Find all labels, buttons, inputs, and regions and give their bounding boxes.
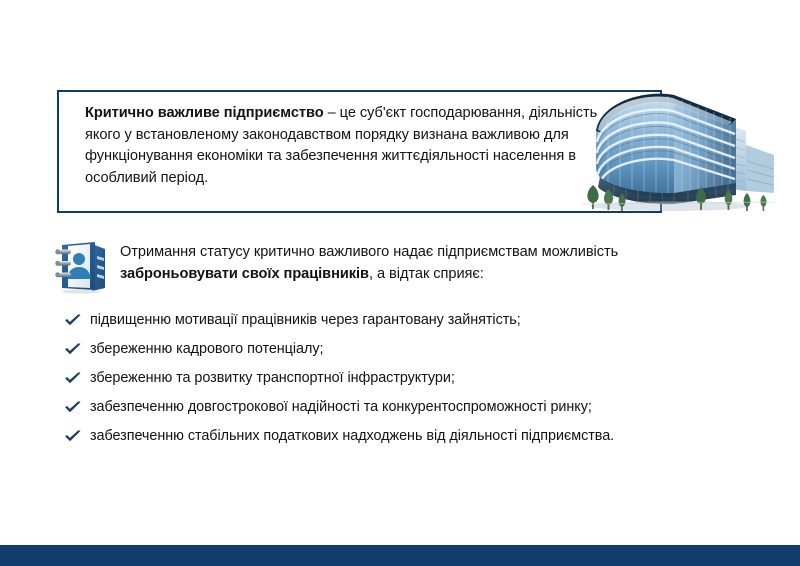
check-icon <box>63 428 83 446</box>
list-item: забезпеченню стабільних податкових надхо… <box>63 427 763 456</box>
list-item: підвищенню мотивації працівників через г… <box>63 311 763 340</box>
list-item-label: забезпеченню довгострокової надійності т… <box>90 398 592 416</box>
list-item-label: забезпеченню стабільних податкових надхо… <box>90 427 614 445</box>
address-book-icon <box>52 240 110 294</box>
intro-row: Отримання статусу критично важливого над… <box>52 238 672 296</box>
intro-text-bold: заброньовувати своїх працівників <box>120 266 369 282</box>
check-icon <box>63 341 83 359</box>
bottom-accent-bar <box>0 545 800 566</box>
intro-text-part1: Отримання статусу критично важливого над… <box>120 244 618 260</box>
list-item: збереженню та розвитку транспортної інфр… <box>63 369 763 398</box>
list-item-label: збереженню та розвитку транспортної інфр… <box>90 369 455 387</box>
slide-canvas: Критично важливе підприємство – це суб'є… <box>0 0 800 566</box>
intro-text: Отримання статусу критично важливого над… <box>120 242 680 285</box>
list-item: збереженню кадрового потенціалу; <box>63 340 763 369</box>
definition-term: Критично важливе підприємство <box>85 105 324 121</box>
office-building-illustration <box>578 73 783 218</box>
list-item: забезпеченню довгострокової надійності т… <box>63 398 763 427</box>
list-item-label: підвищенню мотивації працівників через г… <box>90 311 521 329</box>
check-icon <box>63 370 83 388</box>
check-icon <box>63 399 83 417</box>
list-item-label: збереженню кадрового потенціалу; <box>90 340 323 358</box>
intro-text-part2: , а відтак сприяє: <box>369 266 484 282</box>
benefits-list: підвищенню мотивації працівників через г… <box>63 311 763 456</box>
check-icon <box>63 312 83 330</box>
definition-text: Критично важливе підприємство – це суб'є… <box>85 103 605 189</box>
